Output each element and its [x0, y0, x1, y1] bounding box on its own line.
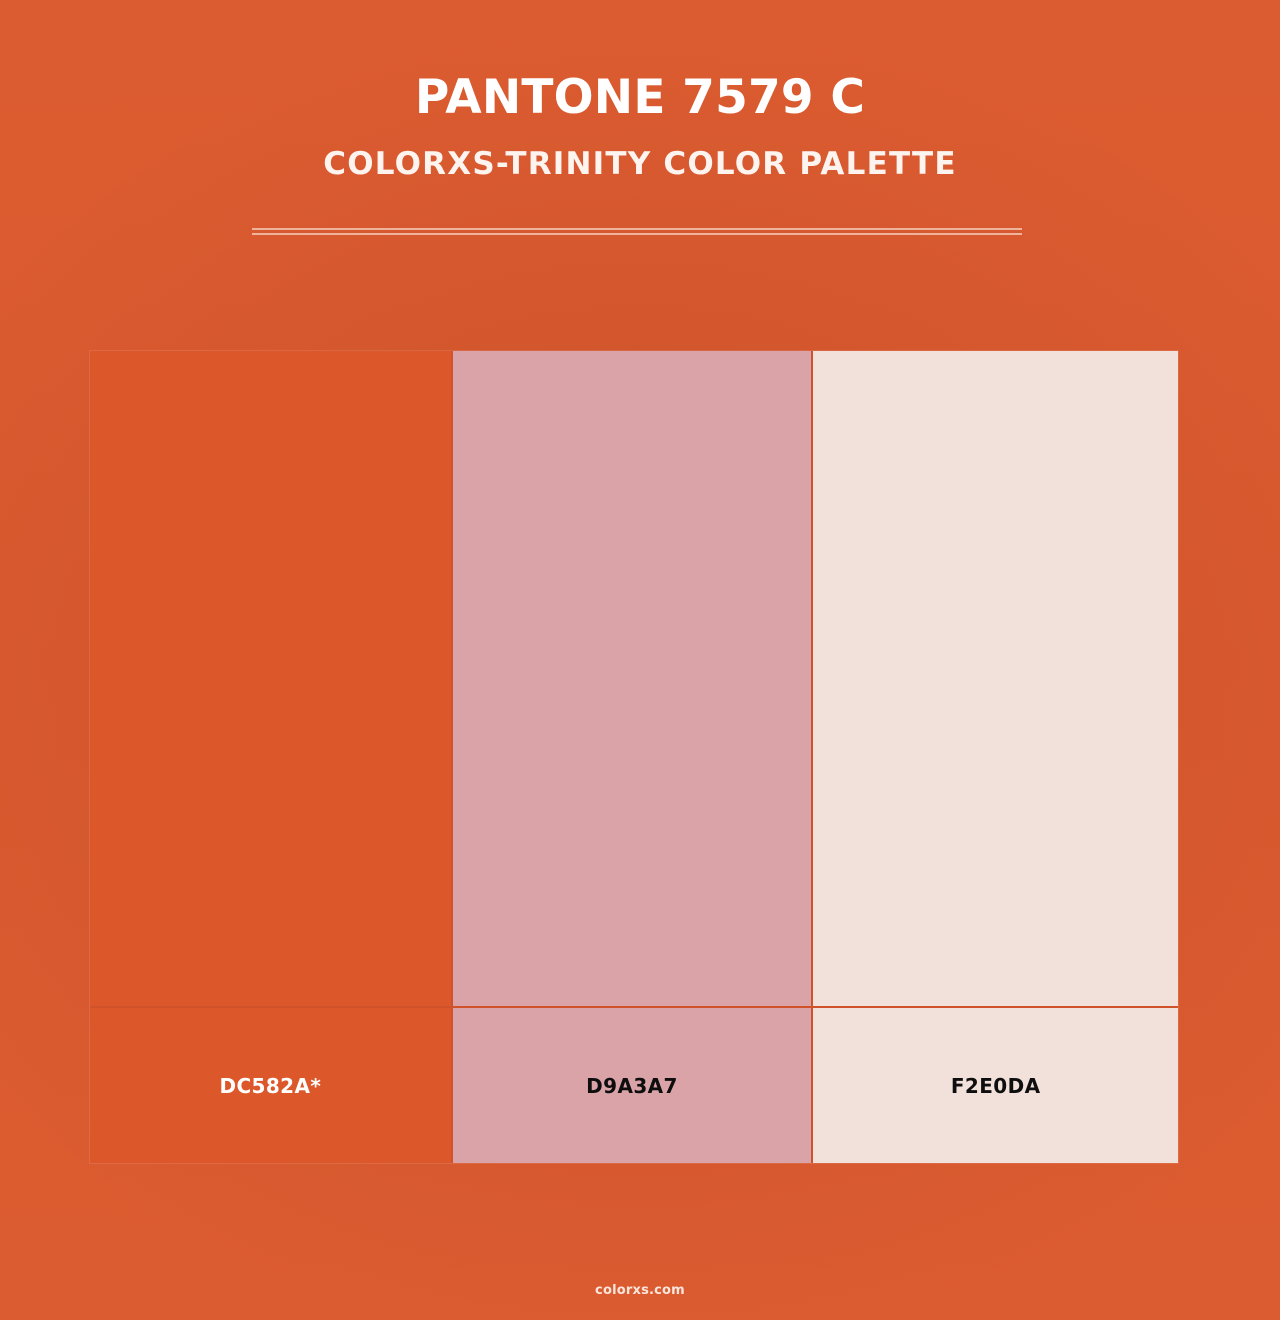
color-swatch[interactable] — [451, 351, 812, 1006]
divider-line-top — [252, 228, 1022, 230]
color-hex-label: D9A3A7 — [586, 1076, 678, 1096]
swatch-label-row: DC582A* D9A3A7 F2E0DA — [90, 1006, 1178, 1163]
color-swatch[interactable] — [811, 351, 1178, 1006]
color-palette: DC582A* D9A3A7 F2E0DA — [90, 351, 1178, 1163]
page-subtitle: COLORXS-TRINITY COLOR PALETTE — [0, 121, 1280, 180]
color-hex-label: F2E0DA — [951, 1076, 1041, 1096]
color-hex-label: DC582A* — [219, 1076, 321, 1096]
header: PANTONE 7579 C COLORXS-TRINITY COLOR PAL… — [0, 0, 1280, 180]
color-label-cell[interactable]: D9A3A7 — [451, 1008, 812, 1163]
footer: colorxs.com — [0, 1260, 1280, 1320]
color-label-cell[interactable]: F2E0DA — [811, 1008, 1178, 1163]
footer-site-label: colorxs.com — [595, 1283, 685, 1298]
color-label-cell[interactable]: DC582A* — [90, 1008, 451, 1163]
header-divider — [252, 228, 1022, 236]
swatch-row — [90, 351, 1178, 1006]
page-title: PANTONE 7579 C — [0, 0, 1280, 121]
divider-line-bottom — [252, 233, 1022, 235]
page-background: PANTONE 7579 C COLORXS-TRINITY COLOR PAL… — [0, 0, 1280, 1320]
color-swatch[interactable] — [90, 351, 451, 1006]
